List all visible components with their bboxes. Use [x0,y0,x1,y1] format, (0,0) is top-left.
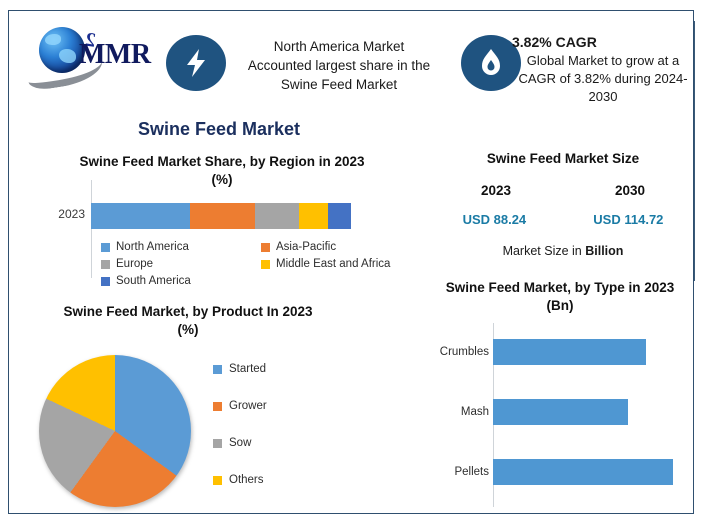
region-legend-item: Asia-Pacific [261,241,421,253]
region-segment-3 [299,203,328,229]
pie-legend-label: Grower [229,400,267,412]
product-share-chart: Swine Feed Market, by Product In 2023 (%… [17,303,417,523]
region-legend-item: South America [101,275,261,287]
region-legend: North AmericaAsia-PacificEuropeMiddle Ea… [101,241,421,292]
type-plot-area [493,327,697,507]
region-plot-area [91,191,351,241]
region-share-chart: Swine Feed Market Share, by Region in 20… [17,153,427,295]
na-note-line-2: Accounted largest share in the [231,56,447,75]
pie-legend: StartedGrowerSowOthers [213,363,267,511]
type-category-label: Crumbles [419,346,489,358]
region-segment-0 [91,203,190,229]
infographic-canvas: 2 MMR North America Market Accounted lar… [0,0,702,523]
pie-legend-label: Started [229,363,266,375]
type-bar-row [493,339,646,365]
region-chart-subtitle: (%) [17,171,427,189]
lightning-bolt-icon [166,35,226,91]
region-legend-label: North America [116,241,189,253]
region-segment-1 [190,203,255,229]
legend-swatch-icon [101,260,110,269]
north-america-note: North America Market Accounted largest s… [231,37,447,94]
type-bar-row [493,399,628,425]
legend-swatch-icon [213,365,222,374]
market-size-unit: Market Size in Billion [429,244,697,258]
pie-legend-item: Sow [213,437,267,449]
type-bar-mash [493,399,628,425]
infographic-frame: 2 MMR North America Market Accounted lar… [8,10,694,514]
legend-swatch-icon [101,243,110,252]
pie-chart-subtitle: (%) [23,321,353,339]
market-size-unit-bold: Billion [585,244,623,258]
region-segment-2 [255,203,299,229]
na-note-line-1: North America Market [231,37,447,56]
type-bar-row [493,459,673,485]
region-legend-item: Europe [101,258,261,270]
region-legend-label: South America [116,275,191,287]
type-category-label: Pellets [419,466,489,478]
region-chart-title: Swine Feed Market Share, by Region in 20… [17,153,427,171]
pie-chart [39,355,191,507]
market-size-value-2030: USD 114.72 [593,212,663,227]
cagr-note: 3.82% CAGR Global Market to grow at a CA… [505,33,701,106]
pie-legend-label: Others [229,474,264,486]
region-stacked-bar [91,203,351,229]
type-bar-crumbles [493,339,646,365]
market-size-title: Swine Feed Market Size [429,151,697,166]
mmr-logo: 2 MMR [27,23,167,85]
type-category-label: Mash [419,406,489,418]
market-size-panel: Swine Feed Market Size 2023 2030 USD 88.… [429,151,697,271]
legend-swatch-icon [213,439,222,448]
region-legend-item: Middle East and Africa [261,258,421,270]
cagr-line-1: Global Market to grow at a [505,52,701,70]
legend-swatch-icon [213,476,222,485]
region-category-label: 2023 [37,207,85,221]
page-title: Swine Feed Market [9,119,429,140]
legend-swatch-icon [213,402,222,411]
pie-legend-item: Started [213,363,267,375]
market-size-year-right: 2030 [615,183,645,198]
market-size-value-2023: USD 88.24 [463,212,527,227]
pie-chart-title: Swine Feed Market, by Product In 2023 [23,303,353,321]
logo-text: MMR [79,39,151,71]
pie-legend-item: Others [213,474,267,486]
na-note-line-3: Swine Feed Market [231,75,447,94]
type-bar-chart: Swine Feed Market, by Type in 2023 (Bn) … [417,279,702,523]
pie-legend-label: Sow [229,437,251,449]
type-bar-pellets [493,459,673,485]
cagr-line-3: 2030 [505,88,701,106]
legend-swatch-icon [101,277,110,286]
region-legend-label: Asia-Pacific [276,241,336,253]
legend-swatch-icon [261,260,270,269]
cagr-line-2: CAGR of 3.82% during 2024- [505,70,701,88]
region-legend-label: Middle East and Africa [276,258,390,270]
type-chart-subtitle: (Bn) [417,297,702,315]
pie-plot-area [39,355,197,507]
cagr-heading: 3.82% CAGR [505,33,701,51]
market-size-years: 2023 2030 [429,183,697,198]
region-legend-item: North America [101,241,261,253]
market-size-values: USD 88.24 USD 114.72 [429,212,697,227]
type-chart-title: Swine Feed Market, by Type in 2023 [417,279,702,297]
legend-swatch-icon [261,243,270,252]
region-segment-4 [328,203,351,229]
market-size-year-left: 2023 [481,183,511,198]
pie-legend-item: Grower [213,400,267,412]
region-legend-label: Europe [116,258,153,270]
market-size-unit-prefix: Market Size in [503,244,586,258]
